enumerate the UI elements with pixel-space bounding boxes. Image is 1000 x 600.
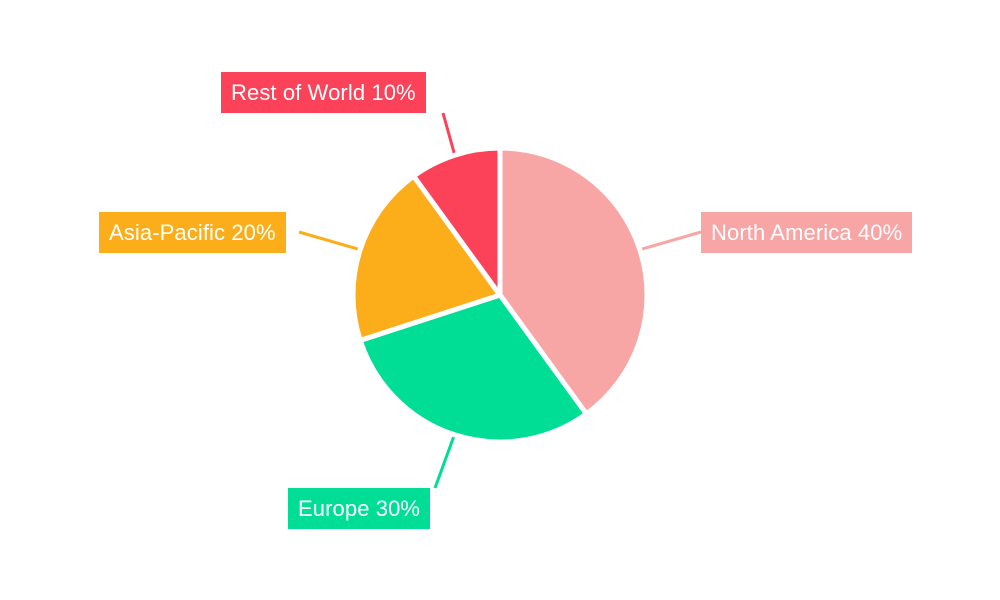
pie-label-north-america: North America 40% bbox=[701, 212, 912, 253]
leader-line-rest-of-world bbox=[443, 113, 456, 159]
pie-wedges bbox=[353, 148, 647, 442]
pie-label-rest-of-world: Rest of World 10% bbox=[221, 72, 426, 113]
pie-label-north-america-text: North America 40% bbox=[711, 222, 902, 244]
pie-label-europe-text: Europe 30% bbox=[298, 498, 420, 520]
pie-label-asia-pacific: Asia-Pacific 20% bbox=[99, 212, 286, 253]
leader-line-north-america bbox=[636, 232, 701, 251]
leader-line-asia-pacific bbox=[299, 232, 364, 251]
pie-label-asia-pacific-text: Asia-Pacific 20% bbox=[109, 222, 276, 244]
pie-chart-canvas bbox=[0, 0, 1000, 600]
pie-chart: North America 40% Europe 30% Asia-Pacifi… bbox=[0, 0, 1000, 600]
leader-line-europe bbox=[435, 431, 456, 488]
pie-label-europe: Europe 30% bbox=[288, 488, 430, 529]
pie-label-rest-of-world-text: Rest of World 10% bbox=[231, 82, 416, 104]
